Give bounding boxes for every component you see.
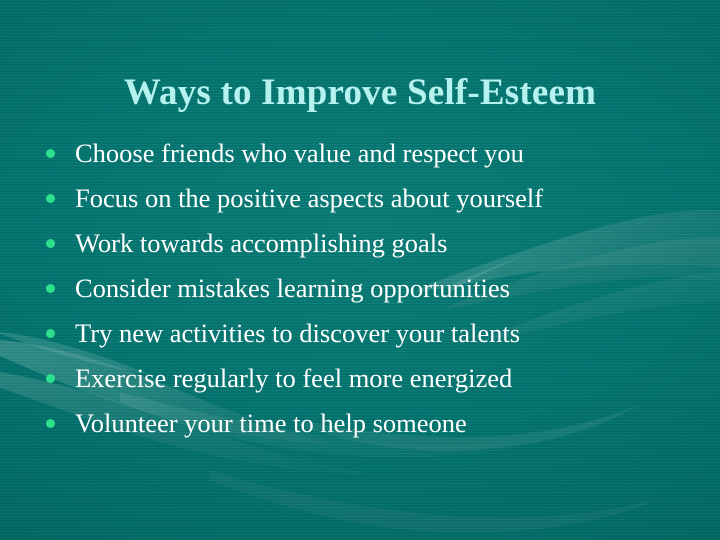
bullet-text: Choose friends who value and respect you: [75, 131, 524, 176]
list-item: Choose friends who value and respect you: [40, 131, 700, 176]
presentation-slide: Ways to Improve Self-Esteem Choose frien…: [0, 0, 720, 540]
bullet-text: Consider mistakes learning opportunities: [75, 266, 510, 311]
slide-content: Ways to Improve Self-Esteem Choose frien…: [0, 0, 720, 540]
slide-title: Ways to Improve Self-Esteem: [0, 71, 720, 114]
list-item: Consider mistakes learning opportunities: [40, 266, 700, 311]
list-item: Try new activities to discover your tale…: [40, 311, 700, 356]
list-item: Work towards accomplishing goals: [40, 221, 700, 266]
list-item: Volunteer your time to help someone: [40, 401, 700, 446]
bullet-point-icon: [46, 419, 55, 428]
list-item: Focus on the positive aspects about your…: [40, 176, 700, 221]
list-item: Exercise regularly to feel more energize…: [40, 356, 700, 401]
bullet-point-icon: [46, 239, 55, 248]
bullet-text: Volunteer your time to help someone: [75, 401, 467, 446]
bullet-point-icon: [46, 329, 55, 338]
bullet-point-icon: [46, 149, 55, 158]
bullet-text: Work towards accomplishing goals: [75, 221, 447, 266]
bullet-text: Exercise regularly to feel more energize…: [75, 356, 512, 401]
bullet-text: Try new activities to discover your tale…: [75, 311, 520, 356]
bullet-list: Choose friends who value and respect you…: [40, 131, 700, 446]
bullet-point-icon: [46, 374, 55, 383]
bullet-text: Focus on the positive aspects about your…: [75, 176, 543, 221]
bullet-point-icon: [46, 194, 55, 203]
bullet-point-icon: [46, 284, 55, 293]
